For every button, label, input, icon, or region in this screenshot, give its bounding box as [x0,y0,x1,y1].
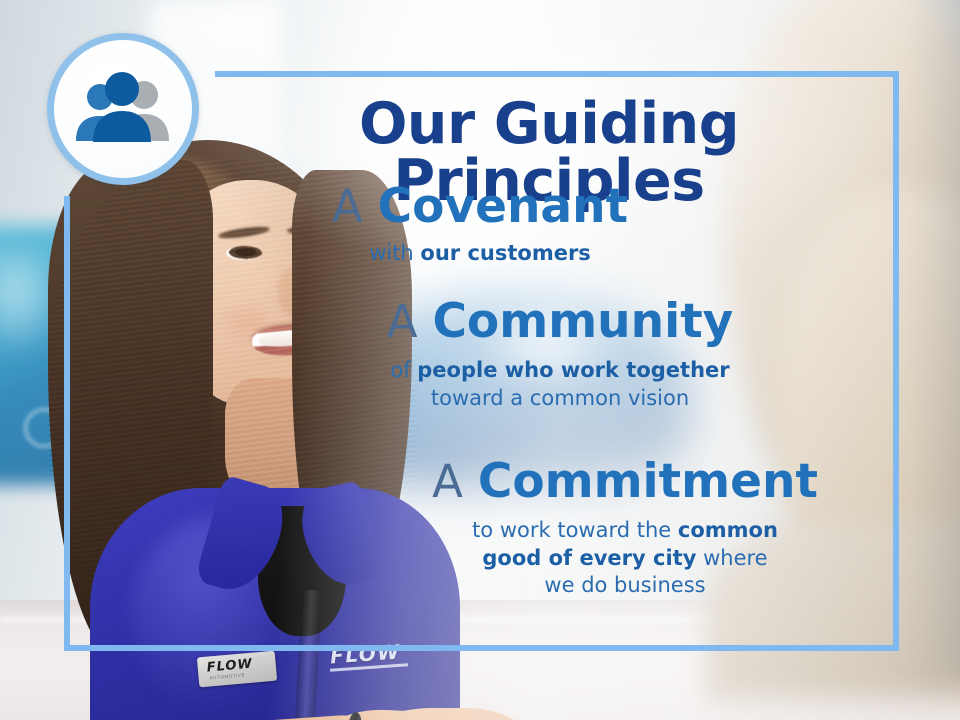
principle-article: A [432,455,463,508]
principle-subtext: with our customers [245,240,715,268]
principle-article: A [332,180,363,233]
principle-commitment: A Commitment to work toward the common g… [370,458,880,600]
people-group-icon [71,71,175,147]
principle-heading: A Community [300,298,820,347]
principle-subtext-line: with our customers [245,240,715,268]
subtext-segment: to work toward the [472,518,678,542]
subtext-segment-bold: good of every city [482,546,696,570]
principle-keyword: Covenant [378,179,628,234]
subtext-segment: of [390,358,417,382]
subtext-segment: with [369,241,420,265]
principle-heading: A Commitment [370,458,880,507]
subtext-segment-bold: our customers [420,241,590,265]
principle-community: A Community of people who work together … [300,298,820,412]
guiding-principles-banner: FLOW AUTOMOTIVE FLOW [0,0,960,720]
principle-subtext: to work toward the common good of every … [370,517,880,600]
principle-subtext-line: good of every city where [370,545,880,573]
people-group-badge [47,33,199,185]
principle-heading: A Covenant [245,183,715,232]
principle-article: A [387,295,418,348]
subtext-segment-bold: people who work together [417,358,729,382]
subtext-segment: where [696,546,767,570]
principle-keyword: Commitment [478,454,818,509]
principle-subtext: of people who work together toward a com… [300,357,820,412]
frame-border-left [64,196,70,651]
principle-subtext-line: toward a common vision [300,385,820,413]
principle-subtext-line: of people who work together [300,357,820,385]
principle-subtext-line: we do business [370,572,880,600]
frame-border-right [893,71,899,651]
principle-covenant: A Covenant with our customers [245,183,715,268]
subtext-segment-bold: common [678,518,778,542]
frame-border-bottom [64,645,899,651]
frame-border-top [215,71,899,77]
subtext-segment: toward a common vision [431,386,689,410]
principle-subtext-line: to work toward the common [370,517,880,545]
subtext-segment: we do business [544,573,705,597]
principle-keyword: Community [432,294,733,349]
